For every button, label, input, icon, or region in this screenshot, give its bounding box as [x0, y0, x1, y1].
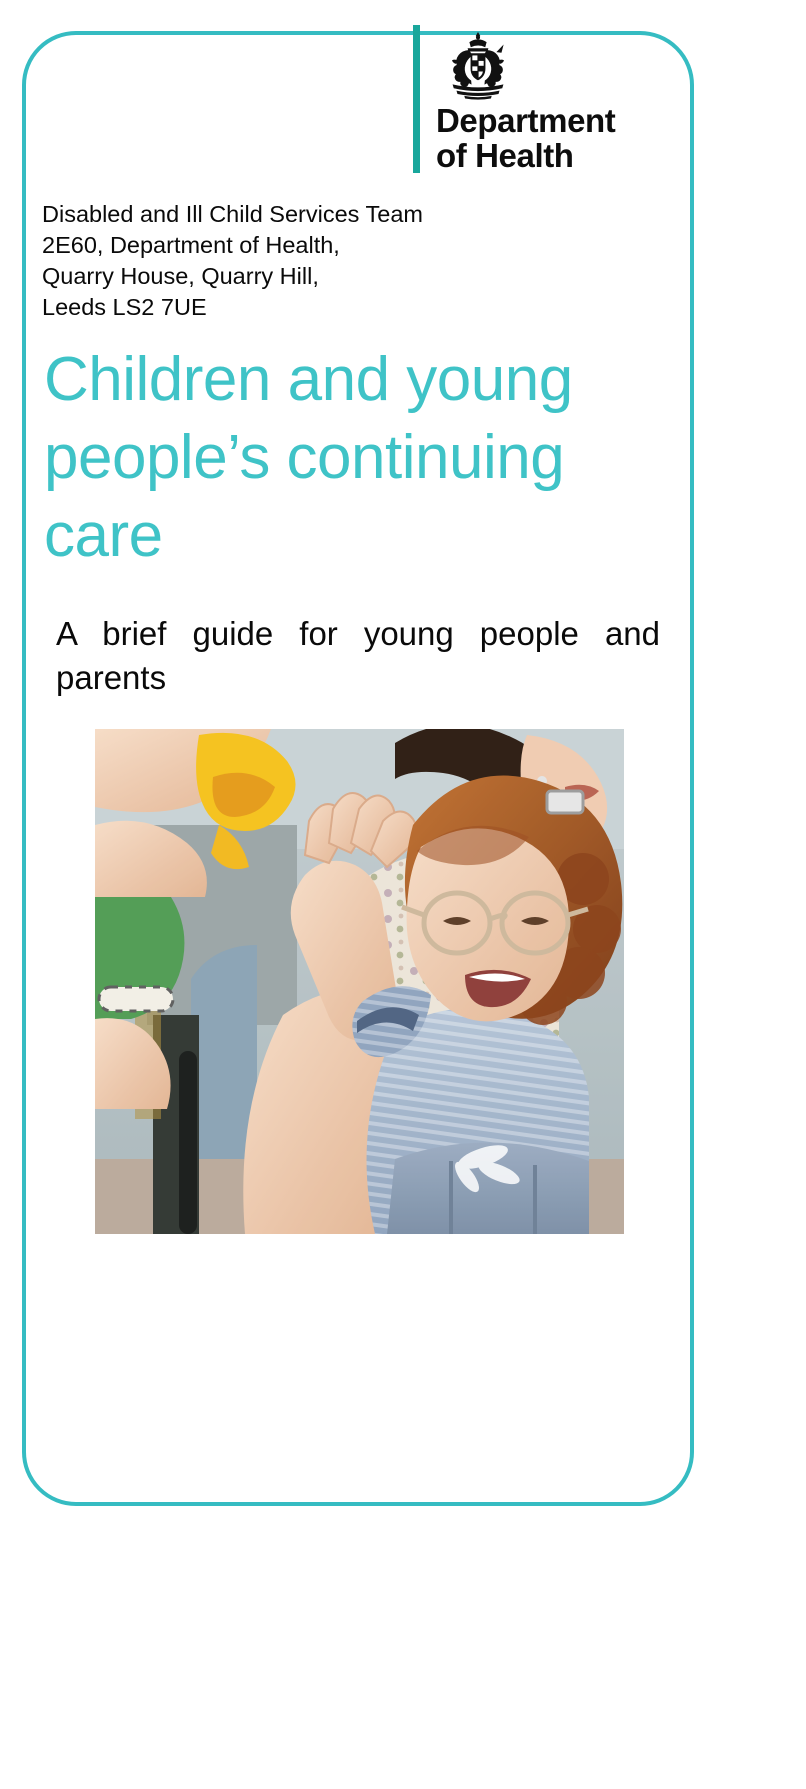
page-title-line2: people’s continuing: [44, 419, 664, 497]
page-subtitle: A brief guide for young people and paren…: [56, 612, 660, 700]
address-line-2: 2E60, Department of Health,: [42, 230, 602, 261]
page-title-line3: care: [44, 497, 664, 575]
logo-text-line1: Department: [436, 104, 669, 138]
logo-text: Department of Health: [436, 104, 669, 173]
address-line-3: Quarry House, Quarry Hill,: [42, 261, 602, 292]
page-title-line1: Children and young: [44, 341, 664, 419]
address-line-4: Leeds LS2 7UE: [42, 292, 602, 323]
address-line-1: Disabled and Ill Child Services Team: [42, 199, 602, 230]
page-subtitle-line1: A brief guide for young people and: [56, 612, 660, 656]
cover-photograph-illustration: [95, 729, 624, 1234]
logo-body: Department of Health: [436, 25, 669, 173]
address-block: Disabled and Ill Child Services Team 2E6…: [42, 199, 602, 323]
department-of-health-logo: Department of Health: [413, 25, 669, 173]
cover-photograph: [95, 729, 624, 1234]
logo-accent-rule: [413, 25, 420, 173]
leaflet-cover-page: Department of Health Disabled and Ill Ch…: [0, 0, 806, 1789]
page-title: Children and young people’s continuing c…: [44, 341, 664, 575]
page-subtitle-line2: parents: [56, 656, 660, 700]
royal-coat-of-arms-icon: [436, 30, 520, 102]
logo-text-line2: of Health: [436, 139, 669, 173]
